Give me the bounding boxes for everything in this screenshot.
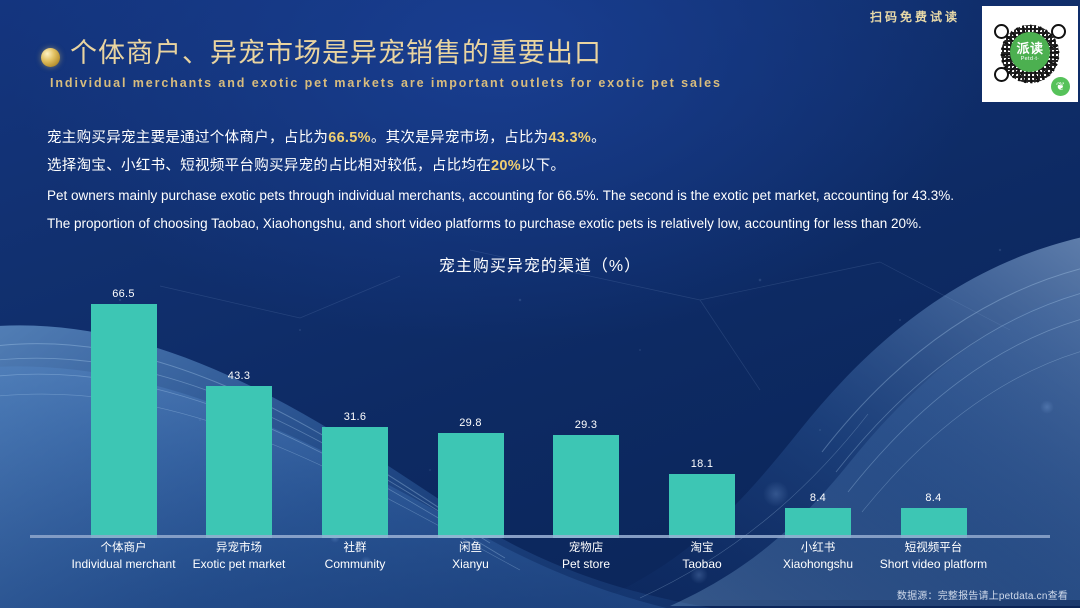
x-axis-tick-label-zh: 社群 (293, 541, 417, 557)
bar-value-label: 66.5 (112, 288, 135, 300)
x-axis-tick-label-en: Xiaohongshu (756, 557, 880, 573)
chart-title: 宠主购买异宠的渠道（%） (0, 252, 1080, 276)
bar-value-label: 8.4 (810, 492, 826, 504)
x-axis-tick-label: 短视频平台Short video platform (872, 541, 996, 572)
bar-value-label: 43.3 (228, 370, 251, 382)
gold-bullet-icon (41, 48, 60, 67)
x-axis-tick-label: 宠物店Pet store (524, 541, 648, 572)
qr-eye-icon (994, 67, 1009, 82)
bar-column[interactable]: 31.6 (322, 276, 388, 538)
zh1-a: 宠主购买异宠主要是通过个体商户，占比为 (47, 130, 328, 146)
bar-value-label: 31.6 (344, 411, 367, 423)
x-axis-tick-label: 个体商户Individual merchant (62, 541, 186, 572)
body-copy-en-line-2: The proportion of choosing Taobao, Xiaoh… (47, 210, 1027, 237)
slide-canvas: 扫码免费试读 派读 Petd·t· ❦ 个体商户、异宠市场是异宠销售的重要出口 … (0, 0, 1080, 608)
wechat-mini-program-icon: ❦ (1051, 77, 1070, 96)
brand-logo-zh: 派读 (1016, 42, 1043, 55)
qr-code[interactable]: 派读 Petd·t· ❦ (982, 6, 1078, 102)
x-axis-tick-label-zh: 个体商户 (62, 541, 186, 557)
bar-value-label: 29.8 (459, 417, 482, 429)
bar[interactable] (438, 433, 504, 538)
x-axis-tick-label-en: Exotic pet market (177, 557, 301, 573)
x-axis-tick-label-zh: 小红书 (756, 541, 880, 557)
bar[interactable] (669, 474, 735, 538)
x-axis-tick-label: 社群Community (293, 541, 417, 572)
bar[interactable] (553, 435, 619, 538)
bar-column[interactable]: 43.3 (206, 276, 272, 538)
x-axis-tick-label-zh: 宠物店 (524, 541, 648, 557)
x-axis-tick-label-en: Pet store (524, 557, 648, 573)
x-axis-tick-label-en: Individual merchant (62, 557, 186, 573)
qr-caption-label: 扫码免费试读 (855, 8, 975, 25)
x-axis-tick-label-en: Taobao (640, 557, 764, 573)
x-axis-tick-label: 异宠市场Exotic pet market (177, 541, 301, 572)
brand-logo: 派读 Petd·t· (1010, 32, 1050, 72)
brand-logo-en: Petd·t· (1021, 57, 1040, 63)
bar[interactable] (322, 427, 388, 538)
page-subtitle: Individual merchants and exotic pet mark… (50, 74, 840, 93)
body-copy-en-line-1: Pet owners mainly purchase exotic pets t… (47, 182, 1027, 209)
bar-chart-plot-area: 66.543.331.629.829.318.18.48.4 (0, 276, 1080, 538)
body-copy: 宠主购买异宠主要是通过个体商户，占比为66.5%。其次是异宠市场，占比为43.3… (47, 124, 1027, 237)
bar-value-label: 8.4 (925, 492, 941, 504)
zh1-highlight-1: 66.5% (328, 130, 371, 146)
zh1-b: 。其次是异宠市场，占比为 (371, 130, 549, 146)
bar-value-label: 29.3 (575, 419, 598, 431)
chart-x-axis-line (30, 535, 1050, 538)
bar-column[interactable]: 66.5 (91, 276, 157, 538)
bar-column[interactable]: 18.1 (669, 276, 735, 538)
bar[interactable] (901, 508, 967, 538)
zh2-b: 以下。 (521, 158, 565, 174)
bar-column[interactable]: 8.4 (901, 276, 967, 538)
x-axis-tick-label-zh: 短视频平台 (872, 541, 996, 557)
body-copy-zh-line-2: 选择淘宝、小红书、短视频平台购买异宠的占比相对较低，占比均在20%以下。 (47, 152, 1027, 180)
bar[interactable] (785, 508, 851, 538)
x-axis-tick-label: 闲鱼Xianyu (409, 541, 533, 572)
bar-column[interactable]: 8.4 (785, 276, 851, 538)
zh2-a: 选择淘宝、小红书、短视频平台购买异宠的占比相对较低，占比均在 (47, 158, 491, 174)
bar[interactable] (91, 304, 157, 538)
bar-column[interactable]: 29.8 (438, 276, 504, 538)
qr-eye-icon (994, 24, 1009, 39)
zh1-highlight-2: 43.3% (548, 130, 591, 146)
page-title: 个体商户、异宠市场是异宠销售的重要出口 (70, 38, 900, 69)
zh2-highlight-1: 20% (491, 158, 521, 174)
x-axis-tick-label-en: Short video platform (872, 557, 996, 573)
bar-column[interactable]: 29.3 (553, 276, 619, 538)
x-axis-tick-label: 小红书Xiaohongshu (756, 541, 880, 572)
qr-eye-icon (1051, 24, 1066, 39)
x-axis-tick-label-en: Community (293, 557, 417, 573)
body-copy-zh-line-1: 宠主购买异宠主要是通过个体商户，占比为66.5%。其次是异宠市场，占比为43.3… (47, 124, 1027, 152)
x-axis-tick-label: 淘宝Taobao (640, 541, 764, 572)
source-note: 数据源：完整报告请上petdata.cn查看 (897, 587, 1068, 602)
x-axis-tick-label-en: Xianyu (409, 557, 533, 573)
bar[interactable] (206, 386, 272, 538)
bar-value-label: 18.1 (691, 458, 714, 470)
x-axis-tick-label-zh: 闲鱼 (409, 541, 533, 557)
x-axis-tick-label-zh: 异宠市场 (177, 541, 301, 557)
zh1-c: 。 (591, 130, 606, 146)
x-axis-tick-label-zh: 淘宝 (640, 541, 764, 557)
